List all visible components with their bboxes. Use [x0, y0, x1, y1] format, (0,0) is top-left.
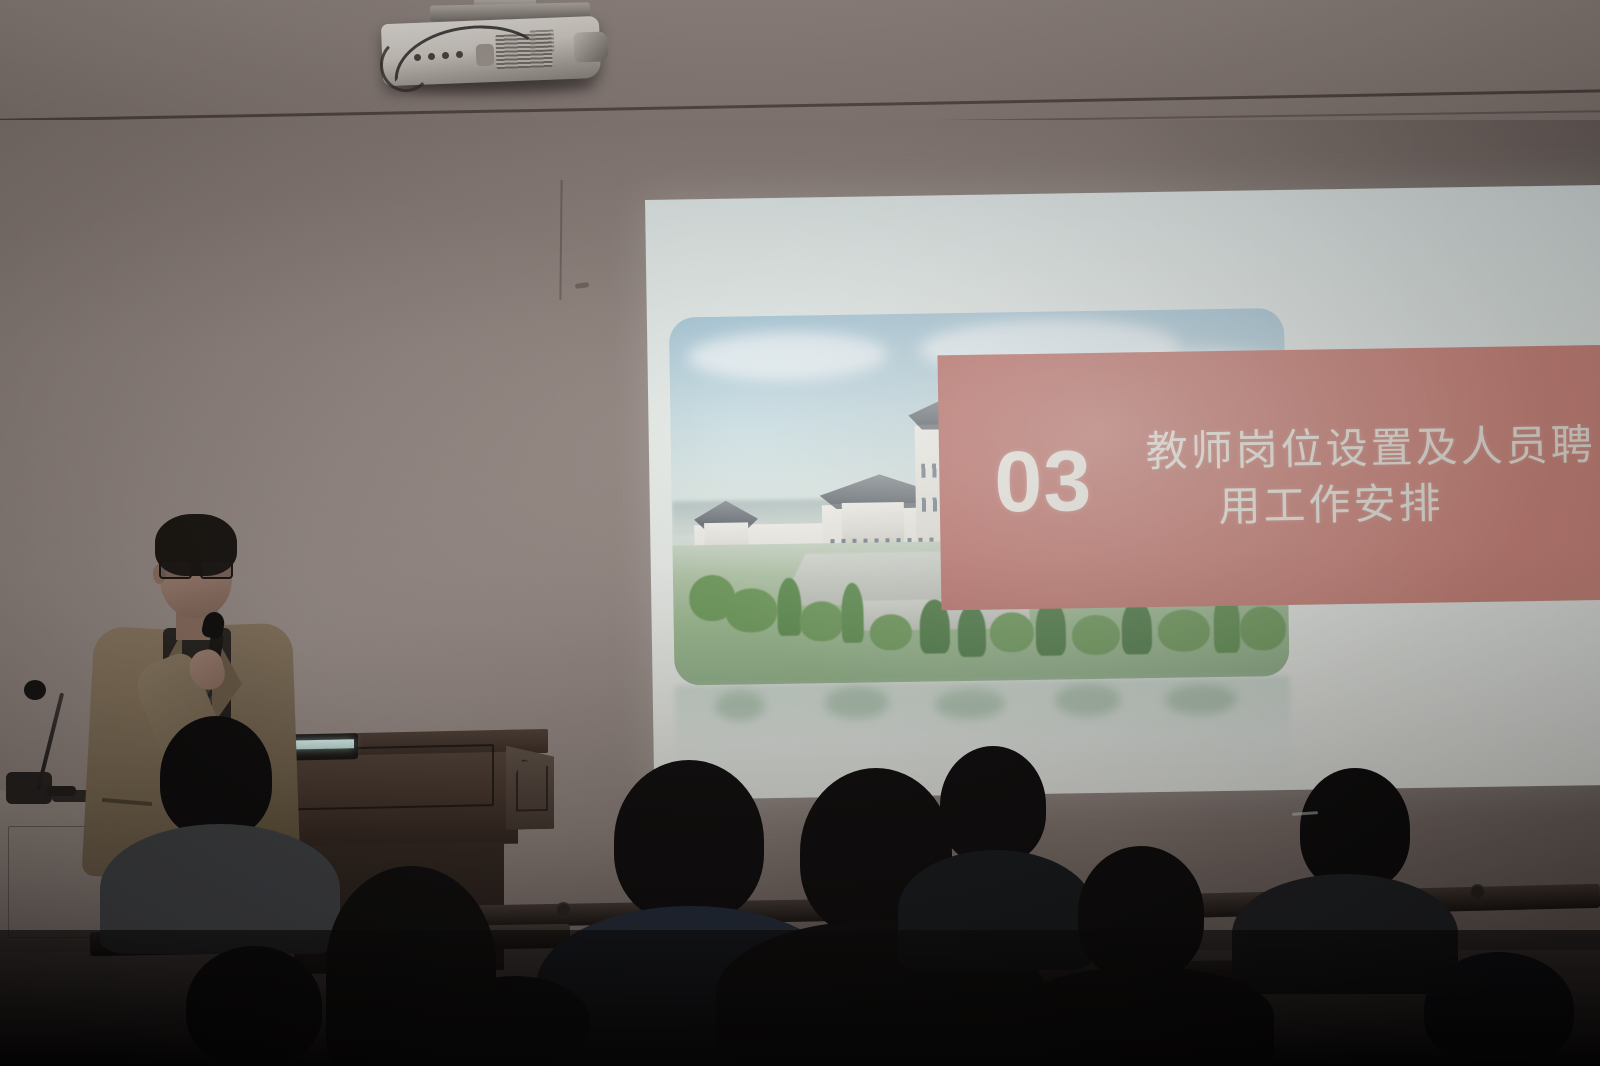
reflection-blob — [825, 686, 889, 719]
campus-tree — [1158, 609, 1211, 652]
audience-head — [614, 760, 764, 922]
projection-screen: 03 教师岗位设置及人员聘 用工作安排 — [645, 185, 1600, 800]
slide-title-text: 教师岗位设置及人员聘 用工作安排 — [1145, 417, 1597, 535]
ceiling — [0, 0, 1600, 140]
lecture-hall-photo: 03 教师岗位设置及人员聘 用工作安排 — [0, 0, 1600, 1066]
audience-head — [940, 746, 1046, 864]
reflection-blob — [715, 690, 765, 721]
lectern-side-wing-inset — [516, 759, 548, 812]
slide-title-line-2: 用工作安排 — [1218, 473, 1597, 534]
audience-head — [1300, 768, 1410, 890]
ceiling-projector — [378, 12, 618, 98]
gooseneck-microphone-head — [24, 680, 46, 700]
glasses-lens-left — [159, 560, 192, 579]
campus-tree — [1121, 600, 1152, 654]
reflection-blob — [1165, 684, 1237, 715]
glasses-bridge — [188, 566, 200, 568]
campus-tree — [1239, 606, 1286, 651]
campus-tree — [1072, 615, 1121, 656]
campus-tree — [990, 612, 1035, 653]
slide-title-line-1: 教师岗位设置及人员聘 — [1145, 421, 1596, 475]
audience-head — [160, 716, 272, 838]
av-equipment-box — [6, 772, 52, 804]
campus-tree — [799, 601, 844, 642]
reflection-blob — [935, 688, 1005, 719]
chair-hardware-knob — [556, 902, 571, 917]
reflection-blob — [1055, 684, 1121, 717]
glasses-lens-right — [200, 560, 233, 579]
slide-title-banner: 03 教师岗位设置及人员聘 用工作安排 — [937, 344, 1600, 610]
campus-tree — [870, 614, 913, 651]
slide-section-number: 03 — [994, 438, 1093, 526]
foreground-shadow — [0, 930, 1600, 1066]
projector-lens — [573, 31, 608, 62]
campus-tree — [957, 605, 986, 657]
campus-tree — [725, 588, 778, 633]
chair-hardware-knob — [1470, 884, 1485, 899]
presenter-glasses — [157, 560, 233, 575]
projector-cable-loop — [380, 38, 432, 92]
